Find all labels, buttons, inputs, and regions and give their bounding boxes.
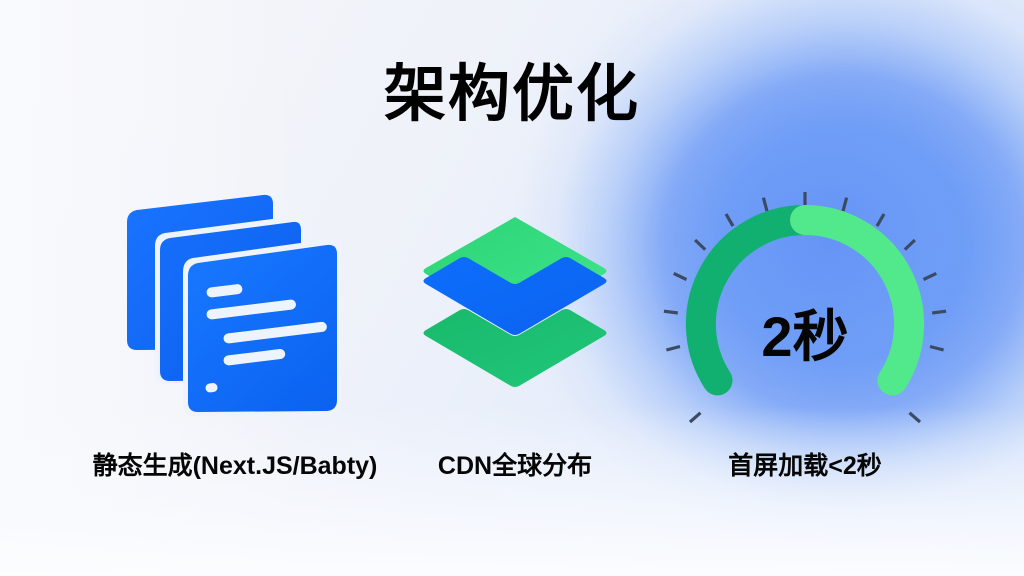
feature-icon-area: 2秒: [620, 180, 990, 430]
layers-svg: [420, 212, 610, 392]
page-title: 架构优化: [0, 62, 1024, 127]
stacked-documents-svg: [115, 194, 355, 424]
feature-caption: 首屏加载<2秒: [620, 446, 990, 482]
feature-caption: 静态生成(Next.JS/Babty): [40, 446, 430, 482]
gauge-value-label: 2秒: [655, 292, 955, 373]
gauge-icon: 2秒: [655, 174, 955, 474]
stacked-documents-icon: [115, 194, 355, 424]
feature-item-first-paint: 2秒 首屏加载<2秒: [620, 180, 990, 510]
feature-item-static-generation: 静态生成(Next.JS/Babty): [40, 180, 430, 510]
feature-item-cdn-distribution: CDN全球分布: [400, 180, 630, 510]
feature-icon-area: [40, 180, 430, 430]
slide-root: 架构优化: [0, 0, 1024, 576]
layers-icon: [420, 212, 610, 392]
feature-icon-area: [400, 180, 630, 430]
feature-caption: CDN全球分布: [400, 446, 630, 482]
